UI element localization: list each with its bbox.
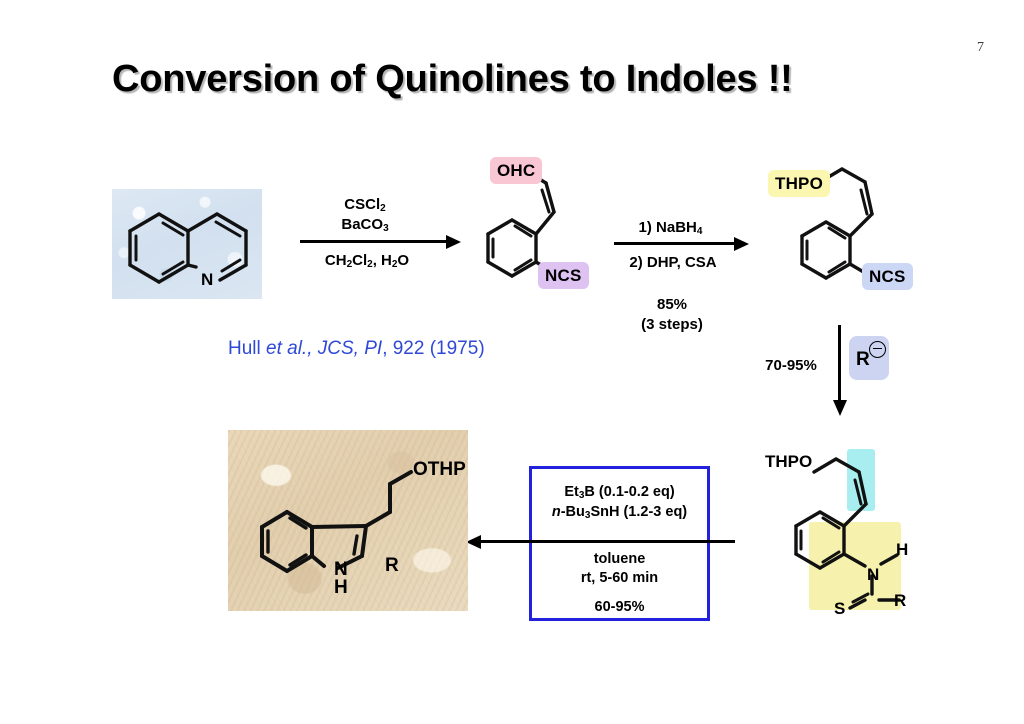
citation-author: Hull bbox=[228, 338, 266, 359]
step4-condition-line3: toluene bbox=[529, 550, 710, 568]
ncs-label-highlight-1: NCS bbox=[538, 262, 589, 289]
step3-yield-value: 70-95% bbox=[765, 357, 817, 374]
step1-reagent-line1: CSCl2 bbox=[344, 196, 385, 213]
step4-arrow-head bbox=[466, 535, 481, 549]
step3-arrow-line bbox=[838, 325, 841, 403]
quinoline-nitrogen-label: N bbox=[200, 271, 214, 288]
thioamide-n-label: N bbox=[866, 566, 880, 583]
step4-condition-line2: n-Bu3SnH (1.2-3 eq) bbox=[529, 503, 710, 523]
thpo-label-highlight-1: THPO bbox=[768, 170, 830, 197]
citation-rest: , 922 (1975) bbox=[382, 338, 484, 359]
step2-reagents-above: 1) NaBH4 bbox=[608, 219, 733, 239]
step1-solvent-below: CH2Cl2, H2O bbox=[292, 252, 442, 272]
thpo-label-2: THPO bbox=[765, 453, 812, 470]
step2-reagent-line1: 1) NaBH4 bbox=[639, 219, 703, 236]
r-anion-reagent-badge: R bbox=[849, 336, 889, 380]
thioamide-r-label: R bbox=[893, 592, 907, 609]
indole-h-label: H bbox=[333, 578, 349, 597]
step3-yield: 70-95% bbox=[755, 356, 827, 376]
r-anion-label: R bbox=[856, 349, 870, 371]
step3-arrow-head bbox=[833, 400, 847, 416]
step4-yield: 60-95% bbox=[529, 598, 710, 616]
thioamide-h-label: H bbox=[895, 541, 909, 558]
step2-arrow-head bbox=[734, 237, 749, 251]
step2-reagent-line2: 2) DHP, CSA bbox=[629, 254, 716, 271]
indole-r-label: R bbox=[384, 556, 400, 575]
slide-canvas: 7 Conversion of Quinolines to Indoles !! bbox=[0, 0, 1024, 724]
step4-condition-line4: rt, 5-60 min bbox=[529, 569, 710, 587]
othp-label: OTHP bbox=[413, 460, 466, 479]
step1-arrow-line bbox=[300, 240, 448, 243]
citation-journal: , JCS, PI bbox=[307, 338, 382, 359]
quinoline-skeleton bbox=[112, 189, 262, 299]
minus-charge-icon bbox=[869, 341, 886, 358]
step2-yield-line1: 85% bbox=[657, 296, 687, 313]
step1-reagent-line2: BaCO3 bbox=[341, 216, 388, 233]
thioamide-s-label: S bbox=[833, 600, 846, 617]
step1-solvent-line1: CH2Cl2, H2O bbox=[325, 252, 409, 269]
citation: Hull et al., JCS, PI, 922 (1975) bbox=[228, 338, 485, 360]
step2-yield-line2: (3 steps) bbox=[641, 316, 703, 333]
step2-yield: 85% (3 steps) bbox=[608, 295, 736, 334]
step1-reagents-above: CSCl2 BaCO3 bbox=[295, 196, 435, 235]
step2-arrow-line bbox=[614, 242, 736, 245]
ncs-label-highlight-2: NCS bbox=[862, 263, 913, 290]
ohc-label-highlight: OHC bbox=[490, 157, 542, 184]
step4-arrow-line bbox=[480, 540, 735, 543]
citation-etal: et al. bbox=[266, 338, 307, 359]
step4-condition-line1: Et3B (0.1-0.2 eq) bbox=[529, 483, 710, 503]
step1-arrow-head bbox=[446, 235, 461, 249]
step2-reagents-below: 2) DHP, CSA bbox=[608, 254, 738, 273]
page-title: Conversion of Quinolines to Indoles !! bbox=[112, 58, 793, 101]
page-number: 7 bbox=[977, 40, 984, 56]
